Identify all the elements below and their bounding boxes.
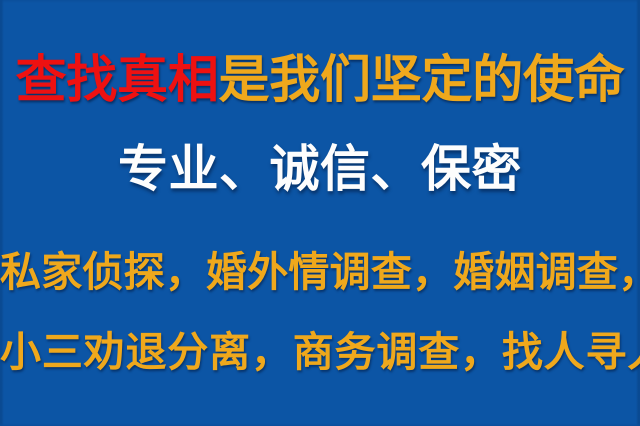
slogan-rest-text: 是我们坚定的使命 bbox=[219, 51, 625, 110]
advertisement-banner: 查找真相是我们坚定的使命 专业、诚信、保密 私家侦探，婚外情调查，婚姻调查， 小… bbox=[0, 0, 640, 426]
slogan-headline: 查找真相是我们坚定的使命 bbox=[0, 55, 640, 106]
core-values-text: 专业、诚信、保密 bbox=[0, 144, 640, 194]
slogan-emphasis-text: 查找真相 bbox=[16, 51, 219, 110]
services-list-line-2: 小三劝退分离，商务调查，找人寻人 bbox=[0, 332, 640, 373]
banner-top-edge-shade bbox=[0, 0, 640, 3]
services-list-line-1: 私家侦探，婚外情调查，婚姻调查， bbox=[0, 252, 640, 293]
